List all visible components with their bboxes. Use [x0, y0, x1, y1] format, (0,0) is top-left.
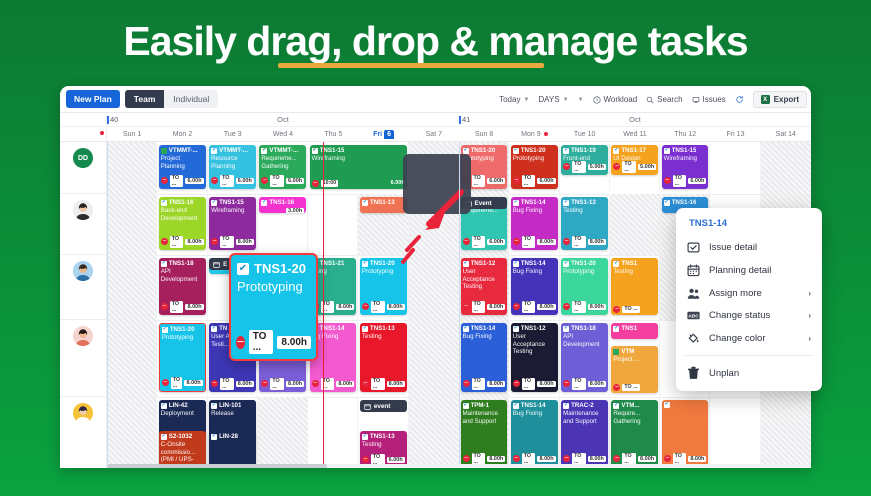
context-menu[interactable]: TNS1-14 Issue detailPlanning detailAssig… — [676, 208, 822, 391]
day-header-9[interactable]: Tue 10 — [560, 127, 610, 141]
task-card[interactable]: ✔TNS1-14Bug Fixing−TO ...8.00h — [511, 197, 558, 250]
card-header: ✔TNS1-15 — [310, 145, 407, 155]
week-number: 41 — [462, 115, 470, 124]
card-footer: −TO ...8.00h — [360, 300, 407, 316]
avatar-person-5[interactable] — [73, 403, 93, 423]
day-label: Wed 4 — [273, 131, 293, 138]
card-checkbox-icon[interactable]: ✔ — [563, 261, 569, 267]
card-hours: 6.00h — [286, 178, 304, 184]
task-card[interactable]: ✔TNS1-163.00h — [259, 197, 306, 213]
svg-text:ABC: ABC — [688, 313, 699, 319]
avatar-photo — [73, 326, 93, 346]
day-label: Thu 5 — [324, 131, 342, 138]
blocked-icon: − — [513, 455, 520, 462]
today-label: Today — [499, 95, 520, 104]
task-card[interactable]: ✔TNS1-18API Development−TO ...8.00h — [561, 323, 608, 392]
card-checkbox-icon[interactable]: ✔ — [261, 148, 267, 154]
card-hours: 8.00h — [286, 381, 304, 387]
task-card[interactable]: ✔−TO ...8.00h — [662, 400, 709, 467]
card-issue-key: TNS1-20 — [471, 147, 496, 154]
card-checkbox-icon[interactable]: ✔ — [613, 148, 619, 154]
day-header-6[interactable]: Sat 7 — [409, 127, 459, 141]
blocked-icon: − — [563, 380, 570, 387]
task-card[interactable]: ✔TNS1-13Testing−TO ...8.00h — [360, 323, 407, 392]
card-issue-key: LIN-101 — [219, 402, 241, 409]
blocked-icon: − — [613, 306, 620, 313]
card-issue-key: TNS1-16 — [169, 199, 194, 206]
workload-button[interactable]: Workload — [593, 95, 638, 104]
week-gutter — [60, 113, 107, 126]
card-status-badge: TO ... — [472, 378, 486, 391]
task-card[interactable]: ✔TNS1-17UI Design−TO ...5.00h — [611, 145, 658, 175]
card-footer: −TO ...8.00h — [461, 300, 508, 316]
excel-icon: X — [761, 95, 770, 104]
card-title: Wireframing — [310, 155, 407, 179]
task-card[interactable]: ✔TNS1-20Prototyping−TO ...6.00h — [511, 145, 558, 189]
context-menu-title: TNS1-14 — [676, 216, 822, 236]
resource-row-0[interactable]: DD — [60, 142, 106, 194]
card-title: Require... Gathering — [611, 410, 658, 451]
card-footer: −TO ... — [611, 383, 658, 393]
card-checkbox-icon[interactable]: ✔ — [463, 326, 469, 332]
day-header-10[interactable]: Wed 11 — [610, 127, 660, 141]
blocked-icon: − — [362, 380, 369, 387]
task-card[interactable]: ✔TNS1-14Bug Fixing−TO ...8.00h — [511, 400, 558, 467]
context-menu-separator — [685, 355, 813, 356]
task-card[interactable]: ✔LIN-28 — [209, 431, 256, 468]
date-gutter — [60, 127, 107, 141]
card-hours: 6.00h — [185, 178, 203, 184]
task-card[interactable]: ✔TNS1-16Back-end Development−TO ...8.00h — [159, 197, 206, 250]
card-hours: 8.00h — [638, 456, 656, 462]
blocked-icon: − — [664, 455, 671, 462]
issues-icon — [692, 96, 700, 104]
weekend-hatch-sun1 — [107, 142, 157, 468]
day-header-0[interactable]: Sun 1 — [107, 127, 157, 141]
card-checkbox-icon[interactable]: ✔ — [211, 200, 217, 206]
card-issue-key: TN — [219, 325, 227, 332]
card-footer: −TO ...6.00h — [159, 174, 206, 190]
card-checkbox-icon[interactable]: ✔ — [261, 200, 267, 206]
day-label: Fri — [373, 131, 382, 138]
card-header: ✔TNS1-13 — [561, 197, 608, 207]
card-title: Resource Planning — [209, 155, 256, 173]
card-header: ✔TNS1-13 — [360, 323, 407, 333]
paint-bucket-icon — [687, 331, 700, 345]
card-hours: 8.00h — [537, 456, 555, 462]
card-header: ✔LIN-28 — [209, 431, 256, 441]
card-status-badge: TO ... — [170, 236, 184, 249]
task-card[interactable]: ✔TPM-1Maintenance and Support−TO ...8.00… — [461, 400, 508, 467]
card-hours: 8.00h — [537, 304, 555, 310]
day-header-1[interactable]: Mon 2 — [157, 127, 207, 141]
card-footer: −TO ...6.00h — [662, 174, 709, 190]
card-checkbox-icon[interactable]: ✔ — [161, 434, 167, 440]
card-checkbox-icon[interactable]: ✔ — [312, 148, 318, 154]
card-header: ✔ — [662, 400, 709, 409]
context-menu-item-label: Planning detail — [709, 265, 771, 276]
card-checkbox-icon[interactable]: ✔ — [161, 403, 167, 409]
drag-arrow-icon — [399, 182, 479, 272]
extra-dropdown[interactable]: ▼ — [578, 97, 584, 103]
avatar-person-3[interactable] — [73, 261, 93, 281]
task-card[interactable]: ✔TNS1 — [611, 323, 658, 339]
card-title: Front-end — [561, 155, 608, 159]
card-hours: 8.00h — [487, 381, 505, 387]
card-status-badge: TO ... — [270, 175, 284, 188]
clock-icon — [593, 96, 601, 104]
task-card[interactable]: ✔TNS1-20Prototyping−TO ...8.00h — [159, 323, 206, 392]
card-issue-key: TNS1-15 — [672, 147, 697, 154]
day-label: Mon 2 — [173, 131, 192, 138]
day-label: Sat 14 — [776, 131, 796, 138]
card-checkbox-icon[interactable]: ✔ — [362, 434, 368, 440]
card-title: Prototyping — [160, 334, 205, 375]
card-title: Prototyping — [360, 268, 407, 299]
card-issue-key: TNS1-12 — [521, 325, 546, 332]
card-checkbox-icon[interactable]: ✔ — [664, 148, 670, 154]
card-issue-key: VTMMT-... — [269, 147, 298, 154]
blocked-icon: − — [211, 380, 218, 387]
task-card[interactable]: ✔VTMMT-...Resource Planning−TO ...6.00h — [209, 145, 256, 189]
context-menu-item-change-status[interactable]: ABCChange status› — [676, 305, 822, 326]
card-checkbox-icon[interactable]: ✔ — [613, 326, 619, 332]
card-header: ✔TNS1-17 — [611, 145, 658, 155]
card-checkbox-icon[interactable]: ✔ — [362, 200, 368, 206]
card-title: Bug Fixing — [461, 333, 508, 376]
today-line — [323, 142, 324, 468]
issue-detail-icon — [687, 241, 700, 254]
card-title: Back-end Development — [159, 207, 206, 234]
task-card[interactable]: ✔TNS1-14Bug Fixing−TO ...8.00h — [511, 258, 558, 315]
card-checkbox-icon[interactable]: ✔ — [463, 148, 469, 154]
resource-row-2[interactable] — [60, 255, 106, 320]
blocked-icon: − — [563, 455, 570, 462]
avatar-person-2[interactable] — [73, 200, 93, 220]
event-card[interactable]: event — [360, 400, 407, 412]
task-card[interactable]: ✔TNS1-15Wireframing−10:006.00h — [310, 145, 407, 189]
card-issue-key: VTMMT-... — [219, 147, 248, 154]
avatar-person-4[interactable] — [73, 326, 93, 346]
card-header: ✔TRAC-2 — [561, 400, 608, 410]
card-title: Wireframing — [662, 155, 709, 173]
day-label: Tue 3 — [224, 131, 242, 138]
context-menu-item-label: Change status — [709, 310, 770, 321]
card-header: ✔TNS1 — [611, 323, 658, 333]
card-status-badge: TO ... — [371, 378, 385, 391]
event-label: E — [223, 261, 227, 268]
card-checkbox-icon[interactable]: ✔ — [664, 200, 670, 206]
card-status-badge: TO ... — [522, 301, 536, 314]
blocked-icon: − — [211, 177, 218, 184]
card-checkbox-icon[interactable]: ✔ — [613, 261, 619, 267]
card-status-badge: TO ... — [171, 377, 183, 390]
day-label: Wed 11 — [623, 131, 646, 138]
card-footer: −TO ...8.00h — [360, 377, 407, 393]
card-header: ✔VTM... — [611, 400, 658, 410]
card-checkbox-icon[interactable]: ✔ — [237, 263, 249, 275]
card-checkbox-icon[interactable]: ✔ — [513, 261, 519, 267]
card-checkbox-icon[interactable]: ✔ — [613, 403, 619, 409]
resource-row-3[interactable] — [60, 320, 106, 397]
blocked-icon: − — [513, 303, 520, 310]
day-header-13[interactable]: Sat 14 — [761, 127, 811, 141]
card-issue-key: TNS1-17 — [621, 147, 646, 154]
context-menu-item-assign-more[interactable]: Assign more› — [676, 282, 822, 305]
blocked-icon: − — [161, 177, 168, 184]
blocked-icon: − — [463, 303, 470, 310]
card-status-badge: TO ... — [220, 378, 234, 391]
card-issue-key: VTM — [621, 348, 634, 355]
issues-label: Issues — [703, 95, 726, 104]
card-issue-key: TNS1-18 — [571, 325, 596, 332]
avatar-photo — [73, 200, 93, 220]
card-footer: −TO ...8.00h — [561, 300, 608, 316]
card-issue-key: TNS1-15 — [219, 199, 244, 206]
card-checkbox-icon[interactable]: ✔ — [563, 326, 569, 332]
card-issue-key: TNS1-13 — [571, 199, 596, 206]
card-status-badge: TO ... — [673, 175, 687, 188]
card-footer: −TO ...5.00h — [611, 160, 658, 176]
task-card[interactable]: ✔TNS1-15Wireframing−TO ...6.00h — [662, 145, 709, 189]
card-title: Project Planning — [159, 155, 206, 173]
task-card[interactable]: ✔S2-1032C-Onsite commissio... (PMI / UPS… — [159, 431, 206, 468]
today-pill: 6 — [384, 130, 394, 139]
card-checkbox-icon[interactable]: ✔ — [362, 326, 368, 332]
card-title: User Acceptance Testing — [511, 333, 558, 376]
card-hours: 8.00h — [537, 381, 555, 387]
view-mode-switch[interactable]: Team Individual — [125, 90, 219, 108]
card-checkbox-icon[interactable]: ✔ — [161, 261, 167, 267]
card-issue-key: TNS1-13 — [370, 433, 395, 440]
dragged-card-key: TNS1-20 — [254, 261, 306, 276]
card-header: VTM — [611, 346, 658, 356]
task-card[interactable]: ✔TNS1Testing−TO ... — [611, 258, 658, 315]
card-hours: 8.00h — [688, 456, 706, 462]
card-footer: −TO ...8.00h — [511, 300, 558, 316]
horizontal-scrollbar[interactable] — [107, 464, 811, 468]
card-checkbox-icon[interactable]: ✔ — [513, 148, 519, 154]
card-issue-key: S2-1032 — [169, 433, 192, 440]
blocked-icon: − — [563, 163, 570, 170]
card-hours: 8.00h — [588, 381, 606, 387]
card-checkbox-icon[interactable]: ✔ — [463, 403, 469, 409]
context-menu-item-planning-detail[interactable]: Planning detail — [676, 259, 822, 282]
task-card[interactable]: ✔TNS1-14Bug Fixing−TO ...8.00h — [461, 323, 508, 392]
card-checkbox-icon[interactable]: ✔ — [664, 402, 670, 408]
tab-team[interactable]: Team — [125, 90, 165, 108]
refresh-icon — [735, 95, 744, 104]
card-header: VTMMT-... — [159, 145, 206, 155]
card-header: ✔TNS1-18 — [159, 258, 206, 268]
search-button[interactable]: Search — [646, 95, 682, 104]
card-hours: 8.00h — [487, 304, 505, 310]
context-menu-item-unplan[interactable]: Unplan — [676, 361, 822, 385]
task-card[interactable]: ✔VTMMT-...Requireme... Gathering−TO ...6… — [259, 145, 306, 189]
card-status-badge: TO ... — [170, 301, 184, 314]
card-footer: −TO ...8.00h — [561, 235, 608, 251]
card-checkbox-icon[interactable]: ✔ — [563, 403, 569, 409]
card-issue-key: TNS1-20 — [571, 260, 596, 267]
card-title: Bug Fixing — [511, 207, 558, 234]
task-card[interactable]: ✔TNS1-15Wireframing−TO ...8.00h — [209, 197, 256, 250]
task-card[interactable]: ✔TNS1-13Testing−TO ...8.00h — [561, 197, 608, 250]
card-issue-key: TNS1-20 — [170, 326, 195, 333]
card-hours: 8.00h — [185, 239, 203, 245]
avatar-dd[interactable]: DD — [73, 148, 93, 168]
card-footer: −TO ...6.00h — [259, 174, 306, 190]
new-plan-button[interactable]: New Plan — [66, 90, 120, 108]
day-header-2[interactable]: Tue 3 — [208, 127, 258, 141]
days-dropdown[interactable]: DAYS ▼ — [538, 95, 568, 104]
card-footer: −TO ... — [611, 305, 658, 315]
card-hours: 6.00h — [387, 457, 405, 463]
card-title: Maintenance and Support — [461, 410, 508, 451]
card-status-badge: TO ... — [522, 175, 536, 188]
card-footer: −TO ...8.00h — [209, 235, 256, 251]
card-footer: −TO ...6.00h — [511, 174, 558, 190]
card-footer: −TO ...8.00h — [159, 235, 206, 251]
day-header-11[interactable]: Thu 12 — [660, 127, 710, 141]
tab-individual[interactable]: Individual — [164, 90, 218, 108]
export-label: Export — [774, 95, 799, 104]
card-checkbox-icon[interactable]: ✔ — [161, 200, 167, 206]
blocked-icon: − — [162, 379, 169, 386]
blocked-icon: − — [261, 177, 268, 184]
week-month-label: Oct — [277, 115, 289, 124]
task-card[interactable]: ✔TNS1-20Prototyping−TO ...8.00h — [561, 258, 608, 315]
card-checkbox-icon[interactable]: ✔ — [513, 200, 519, 206]
card-footer: −TO ...8.00h — [461, 377, 508, 393]
card-status-badge: TO ... — [622, 384, 639, 390]
card-title: Wireframing — [209, 207, 256, 234]
card-checkbox-icon[interactable]: ✔ — [211, 148, 217, 154]
task-card[interactable]: ✔TRAC-2Maintenance and Support−TO ...8.0… — [561, 400, 608, 467]
card-title: Testing — [611, 268, 658, 305]
context-menu-item-change-color[interactable]: Change color› — [676, 326, 822, 350]
card-issue-key: TNS1-16 — [269, 199, 294, 206]
day-header-8[interactable]: Mon 9 — [509, 127, 559, 141]
task-card[interactable]: VTMProject ...−TO ... — [611, 346, 658, 393]
chevron-right-icon: › — [808, 289, 811, 298]
card-status-badge: TO ... — [220, 175, 234, 188]
card-checkbox-icon[interactable]: ✔ — [211, 403, 217, 409]
week-block-41: 41Oct — [459, 113, 811, 126]
card-title: Bug Fixing — [511, 268, 558, 299]
card-header: ✔TNS1-14 — [511, 197, 558, 207]
card-hours: 8.00h — [588, 239, 606, 245]
week-number: 40 — [110, 115, 118, 124]
card-checkbox-icon[interactable] — [161, 148, 167, 154]
blocked-icon: − — [513, 177, 520, 184]
scrollbar-thumb[interactable] — [107, 464, 327, 468]
card-hours: 8.00h — [236, 239, 254, 245]
card-footer: −TO ...8.00h — [159, 300, 206, 316]
card-issue-key: VTM... — [621, 402, 639, 409]
card-issue-key: VTMMT-... — [169, 147, 198, 154]
issues-button[interactable]: Issues — [692, 95, 726, 104]
people-icon — [687, 287, 700, 300]
card-title: UI Design — [611, 155, 658, 159]
card-status-badge: TO ... — [622, 306, 639, 312]
card-issue-key: TNS1-14 — [521, 199, 546, 206]
day-label: Thu 12 — [674, 131, 696, 138]
task-card[interactable]: ✔TNS1-19Front-end−TO ...5.00h — [561, 145, 608, 175]
day-header-7[interactable]: Sun 8 — [459, 127, 509, 141]
card-title — [611, 333, 658, 339]
resource-row-4[interactable] — [60, 397, 106, 468]
card-status-badge: TO ... — [522, 378, 536, 391]
day-header-5[interactable]: Fri6 — [358, 127, 408, 141]
task-card[interactable]: ✔TNS1-18API Development−TO ...8.00h — [159, 258, 206, 315]
card-checkbox-icon[interactable]: ✔ — [362, 261, 368, 267]
card-hours: 8.00h — [387, 381, 405, 387]
refresh-button[interactable] — [735, 95, 744, 104]
day-header-12[interactable]: Fri 13 — [710, 127, 760, 141]
card-issue-key: TNS1-14 — [521, 402, 546, 409]
card-checkbox-icon[interactable]: ✔ — [211, 326, 217, 332]
dragged-card[interactable]: ✔ TNS1-20 Prototyping − TO ... 8.00h — [229, 253, 318, 361]
task-card[interactable]: ✔VTM...Require... Gathering−TO ...8.00h — [611, 400, 658, 467]
card-checkbox-icon[interactable]: ✔ — [563, 200, 569, 206]
card-header: ✔TNS1-20 — [160, 324, 205, 334]
search-label: Search — [657, 95, 682, 104]
card-footer: −TO ...5.00h — [561, 160, 608, 176]
week-start-marker — [107, 116, 109, 124]
card-header: ✔TNS1-18 — [561, 323, 608, 333]
card-checkbox-icon[interactable]: ✔ — [162, 327, 168, 333]
card-title: API Development — [561, 333, 608, 376]
card-status-badge: TO ... — [572, 161, 586, 174]
resource-row-1[interactable] — [60, 194, 106, 255]
today-dropdown[interactable]: Today ▼ — [499, 95, 529, 104]
card-issue-key: TNS1-13 — [370, 325, 395, 332]
card-header: ✔TPM-1 — [461, 400, 508, 410]
card-header: ✔S2-1032 — [159, 431, 206, 441]
task-card[interactable]: VTMMT-...Project Planning−TO ...6.00h — [159, 145, 206, 189]
card-checkbox-icon[interactable]: ✔ — [513, 403, 519, 409]
blocked-icon: − — [161, 238, 168, 245]
task-card[interactable]: ✔TNS1-12User Acceptance Testing−TO ...8.… — [511, 323, 558, 392]
card-header: ✔TNS1-15 — [662, 145, 709, 155]
card-checkbox-icon[interactable]: ✔ — [211, 434, 217, 440]
card-issue-key: TNS1-14 — [521, 260, 546, 267]
milestone-dot-icon — [544, 132, 548, 136]
card-status-badge: TO ... — [572, 378, 586, 391]
card-footer: 3.00h — [259, 207, 306, 213]
card-checkbox-icon[interactable] — [613, 349, 619, 355]
dragged-card-title: Prototyping — [231, 276, 316, 330]
blocked-icon: − — [463, 380, 470, 387]
abc-icon: ABC — [687, 310, 700, 321]
week-month-label: Oct — [629, 115, 641, 124]
day-label: Sun 8 — [475, 131, 493, 138]
card-footer: −TO ...8.00h — [561, 377, 608, 393]
day-label: Mon 9 — [521, 131, 540, 138]
card-checkbox-icon[interactable]: ✔ — [513, 326, 519, 332]
unavailable-hatch-e — [258, 397, 308, 468]
card-checkbox-icon[interactable]: ✔ — [563, 148, 569, 154]
calendar-icon — [364, 403, 371, 410]
card-issue-key: TNS1-18 — [169, 260, 194, 267]
day-header-4[interactable]: Thu 5 — [308, 127, 358, 141]
task-card[interactable]: ✔TNS1-13Testing−TO ...6.00h — [360, 431, 407, 468]
context-menu-item-issue-detail[interactable]: Issue detail — [676, 236, 822, 259]
blocked-icon: − — [513, 380, 520, 387]
card-header: ✔VTMMT-... — [259, 145, 306, 155]
day-header-3[interactable]: Wed 4 — [258, 127, 308, 141]
export-button[interactable]: X Export — [753, 91, 807, 108]
